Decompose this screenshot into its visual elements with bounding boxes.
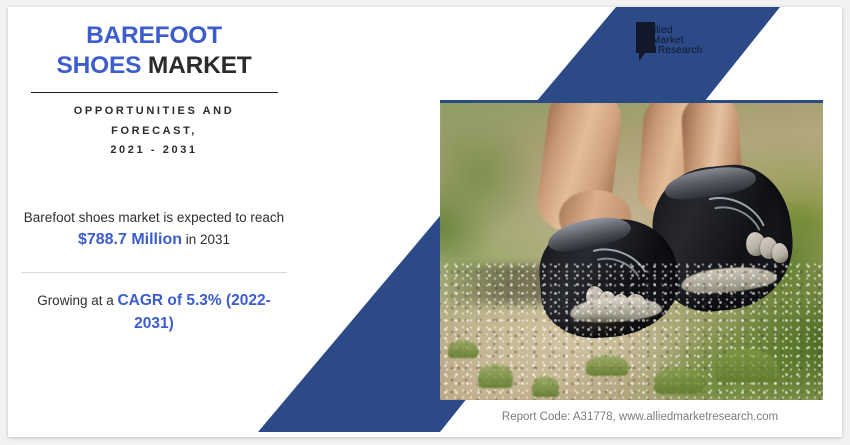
title-plain: MARKET: [148, 52, 252, 79]
title-highlight-line1: BAREFOOT: [86, 22, 222, 49]
market-size-stat: Barefoot shoes market is expected to rea…: [8, 208, 300, 251]
logo-bar-3: [639, 46, 656, 53]
photo-weed-2: [532, 376, 559, 397]
cagr-value: CAGR of 5.3% (2022-2031): [117, 292, 270, 332]
logo-bar-1: [639, 26, 646, 33]
report-summary-column: BAREFOOT SHOES MARKET OPPORTUNITIES AND …: [8, 7, 300, 437]
logo-bar-2: [639, 36, 650, 43]
hero-photo: [440, 100, 823, 400]
page-title: BAREFOOT SHOES MARKET: [8, 21, 300, 81]
cagr-stat: Growing at a CAGR of 5.3% (2022-2031): [8, 290, 300, 335]
market-size-suffix: in 2031: [182, 232, 230, 247]
logo-text-allied: Allied: [647, 25, 673, 36]
title-divider: [31, 92, 278, 94]
market-size-prefix: Barefoot shoes market is expected to rea…: [24, 210, 284, 225]
report-code-text: Report Code: A31778, www.alliedmarketres…: [502, 411, 778, 423]
photo-weed-5: [716, 349, 777, 382]
photo-weed-6: [448, 340, 479, 358]
logo-text-market: Market: [652, 35, 684, 46]
cagr-prefix: Growing at a: [37, 293, 117, 308]
photo-weed-3: [586, 355, 628, 376]
logo-text-research: Research: [658, 45, 702, 56]
photo-top-blue-edge: [440, 100, 823, 103]
title-highlight-line2: SHOES: [57, 52, 142, 79]
allied-market-research-logo[interactable]: Allied Market Research: [630, 19, 704, 69]
infographic-page: Allied Market Research BAREFOOT SHOES MA…: [0, 0, 850, 445]
photo-weed-4: [654, 367, 704, 394]
subtitle-line-1: OPPORTUNITIES AND: [74, 105, 235, 117]
report-subtitle: OPPORTUNITIES AND FORECAST, 2021 - 2031: [8, 102, 300, 160]
subtitle-line-3: 2021 - 2031: [110, 144, 197, 156]
subtitle-line-2: FORECAST,: [111, 125, 197, 137]
market-size-value: $788.7 Million: [78, 231, 182, 248]
report-card: Allied Market Research BAREFOOT SHOES MA…: [8, 7, 842, 437]
report-footer: Report Code: A31778, www.alliedmarketres…: [440, 411, 840, 423]
photo-weed-1: [478, 364, 512, 388]
stat-divider: [21, 272, 287, 273]
